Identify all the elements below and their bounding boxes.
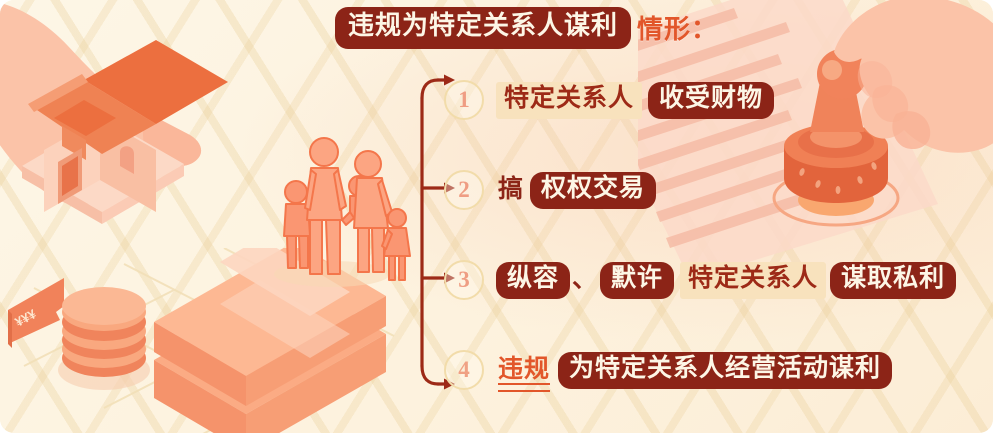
list-item: 4 违规 为特定关系人经营活动谋利 — [444, 350, 892, 390]
list-item-number: 2 — [444, 170, 484, 210]
clause-separator: 、 — [570, 265, 600, 295]
headline-badge: 违规为特定关系人谋利 — [335, 7, 631, 49]
clause-pill: 为特定关系人经营活动谋利 — [558, 352, 892, 389]
list-item-number: 4 — [444, 350, 484, 390]
clause-highlight: 特定关系人 — [680, 262, 826, 299]
clause-plain: 搞 — [496, 175, 530, 205]
vertical-bracket-with-four-arrows — [404, 72, 466, 392]
headline: 违规为特定关系人谋利 情形： — [335, 7, 718, 49]
clause-pill: 纵容 — [496, 262, 570, 299]
clause-pill: 谋取私利 — [830, 262, 956, 299]
clause-pill: 权权交易 — [530, 172, 656, 209]
list-item-number: 3 — [444, 260, 484, 300]
list-item: 2 搞 权权交易 — [444, 170, 656, 210]
headline-tail: 情形： — [637, 9, 718, 46]
list-item: 3 纵容 、 默许 特定关系人 谋取私利 — [444, 260, 956, 300]
clause-underlined: 违规 — [496, 355, 558, 385]
infographic-canvas: ¥¥¥ — [0, 0, 993, 433]
list-item-number: 1 — [444, 80, 484, 120]
list-item: 1 特定关系人 收受财物 — [444, 80, 774, 120]
clause-highlight: 特定关系人 — [496, 82, 642, 119]
clause-pill: 收受财物 — [648, 82, 774, 119]
clause-pill: 默许 — [600, 262, 674, 299]
